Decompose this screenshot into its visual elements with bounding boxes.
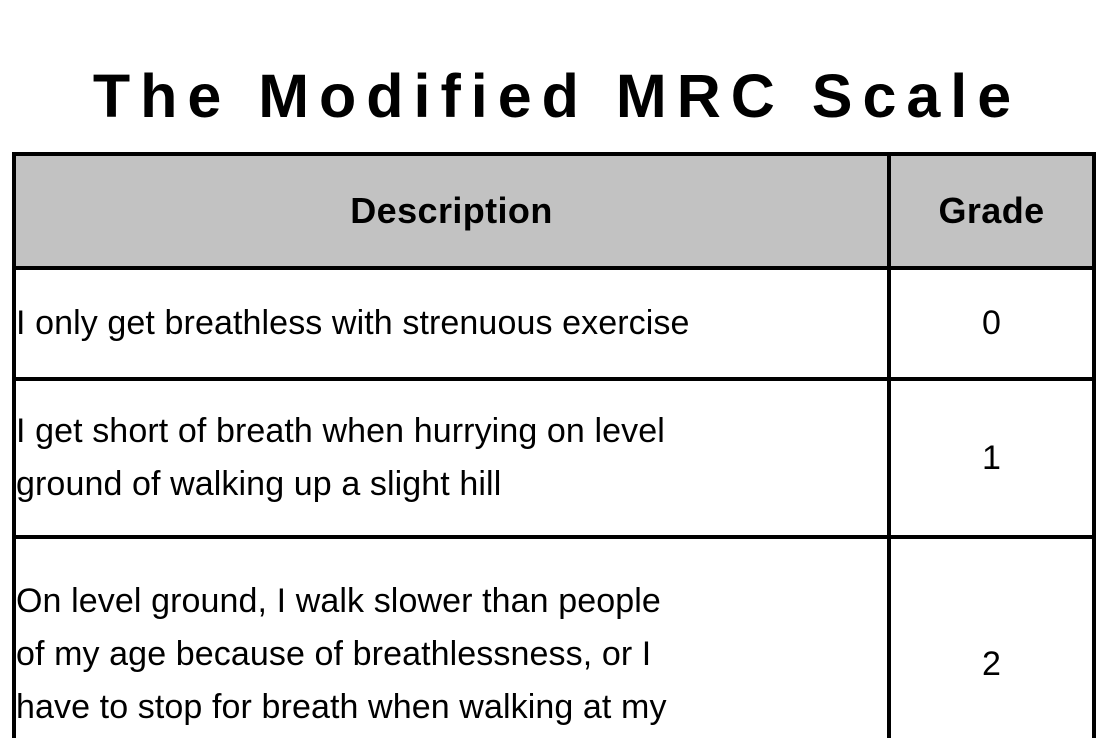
page-title: The Modified MRC Scale — [0, 59, 1114, 133]
cell-description: I only get breathless with strenuous exe… — [14, 268, 889, 379]
cell-grade: 0 — [889, 268, 1094, 379]
table-header-row: Description Grade — [14, 154, 1094, 268]
description-line: of my age because of breathlessness, or … — [16, 628, 887, 681]
column-header-description: Description — [14, 154, 889, 268]
table-row: On level ground, I walk slower than peop… — [14, 537, 1094, 738]
cell-grade: 2 — [889, 537, 1094, 738]
description-line: have to stop for breath when walking at … — [16, 681, 887, 734]
table-header: Description Grade — [14, 154, 1094, 268]
cell-description: I get short of breath when hurrying on l… — [14, 379, 889, 537]
table-row: I get short of breath when hurrying on l… — [14, 379, 1094, 537]
description-line: I get short of breath when hurrying on l… — [16, 405, 887, 458]
mrc-scale-table: Description Grade I only get breathless … — [12, 152, 1096, 738]
table-row: I only get breathless with strenuous exe… — [14, 268, 1094, 379]
column-header-grade: Grade — [889, 154, 1094, 268]
cell-grade: 1 — [889, 379, 1094, 537]
cell-description: On level ground, I walk slower than peop… — [14, 537, 889, 738]
page-canvas: The Modified MRC Scale Description Grade… — [0, 0, 1114, 738]
description-line: I only get breathless with strenuous exe… — [16, 297, 887, 350]
description-line: ground of walking up a slight hill — [16, 458, 887, 511]
table-body: I only get breathless with strenuous exe… — [14, 268, 1094, 738]
description-line: On level ground, I walk slower than peop… — [16, 575, 887, 628]
